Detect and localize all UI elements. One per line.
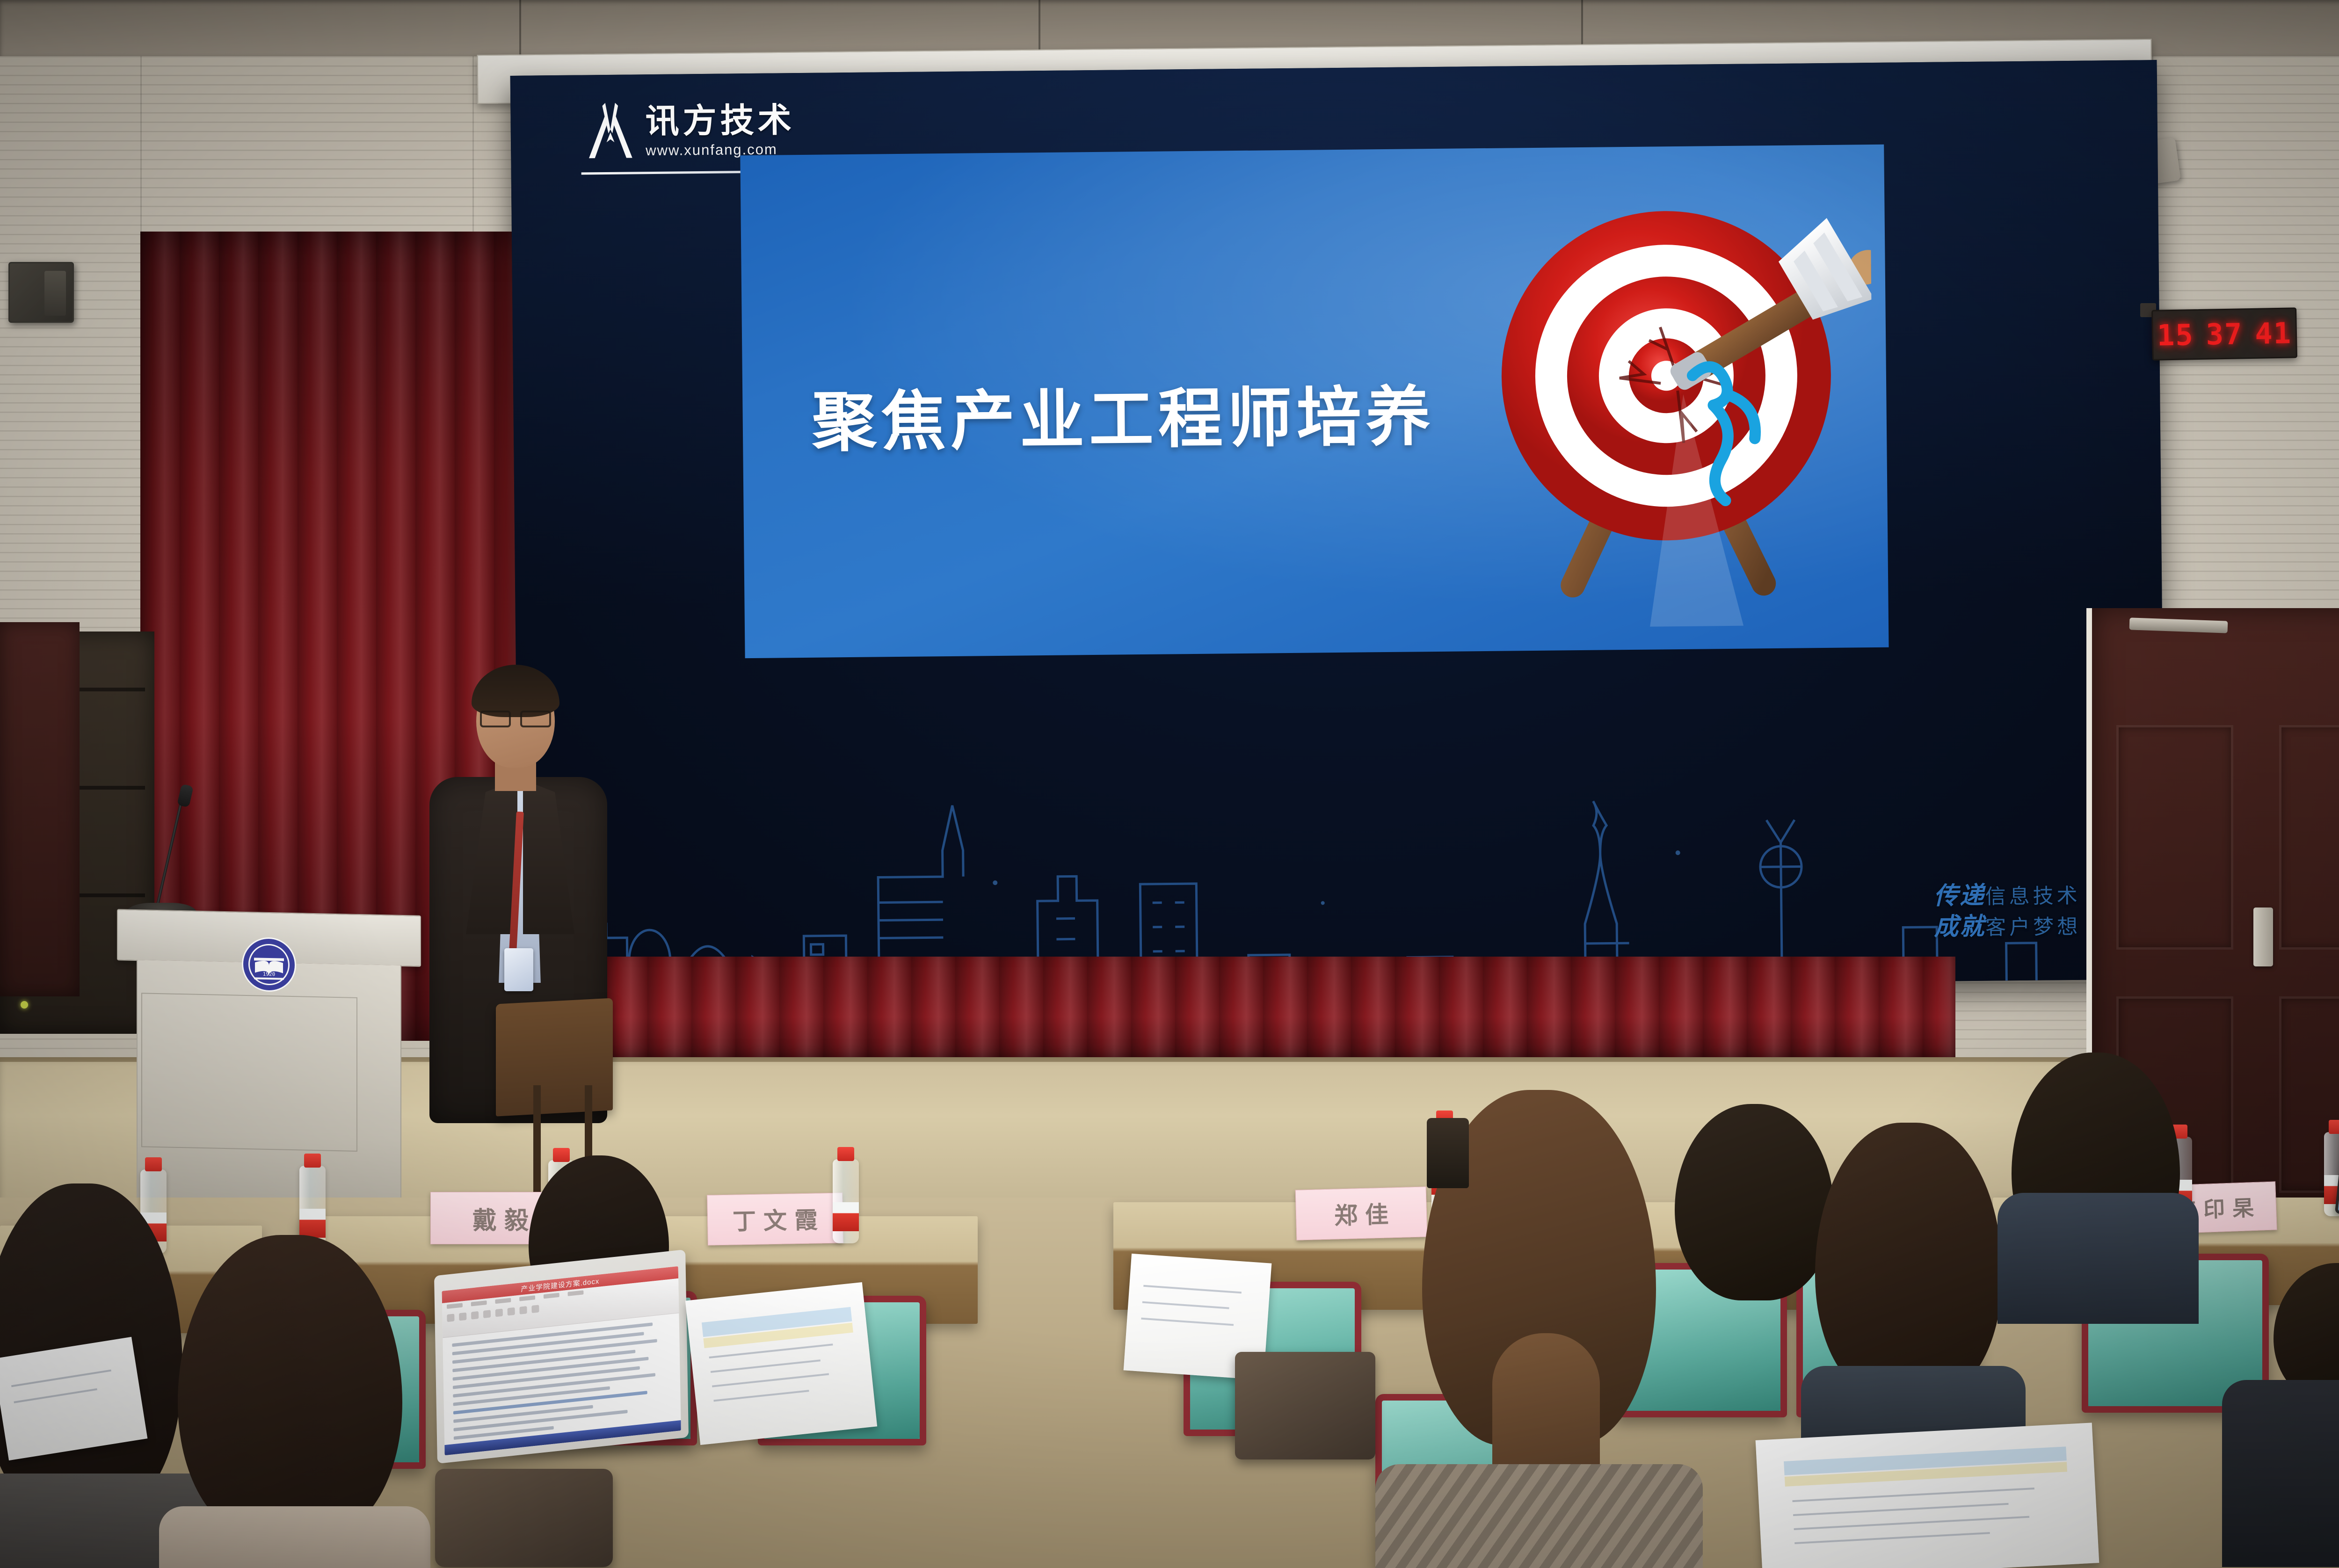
door-closer — [2129, 617, 2228, 633]
ceiling-seam — [1039, 0, 1040, 56]
xunfang-mark-icon — [585, 102, 635, 158]
audience-member — [178, 1235, 402, 1568]
svg-text:1920: 1920 — [263, 971, 275, 978]
audience-member — [2241, 1263, 2339, 1568]
water-bottle — [833, 1159, 859, 1243]
eyeglasses-icon — [480, 711, 551, 725]
exit-door-left[interactable] — [0, 622, 80, 996]
audience-member — [1815, 1123, 2002, 1450]
ribbon-tab[interactable] — [568, 1290, 584, 1296]
audience-member — [1675, 1104, 1834, 1300]
presenter-hair — [472, 665, 559, 717]
ribbon-tab[interactable] — [495, 1298, 511, 1304]
university-emblem-icon: 1920 — [241, 936, 297, 994]
lectern-panel — [141, 993, 357, 1152]
laptop[interactable]: 产业学院建设方案.docx — [434, 1249, 689, 1464]
led-clock: 15 37 41 — [2151, 307, 2297, 360]
tagline-1-bold: 传递 — [1933, 882, 1985, 910]
italic-icon[interactable] — [459, 1313, 466, 1321]
laptop-screen[interactable]: 产业学院建设方案.docx — [442, 1266, 681, 1455]
slide-content-panel: 聚焦产业工程师培养 — [740, 145, 1889, 658]
handout-paper[interactable] — [685, 1282, 877, 1445]
status-led — [21, 1001, 28, 1009]
font-color-icon[interactable] — [519, 1306, 527, 1314]
bold-icon[interactable] — [447, 1314, 454, 1322]
underline-icon[interactable] — [471, 1311, 479, 1320]
tagline-1-thin: 信息技术 — [1985, 885, 2080, 908]
archery-target-icon — [1458, 157, 1874, 638]
ribbon-tab[interactable] — [447, 1303, 463, 1309]
company-tagline: 传递信息技术 成就客户梦想 — [1933, 879, 2081, 943]
list-icon[interactable] — [495, 1309, 503, 1317]
clock-hours: 15 — [2157, 318, 2194, 352]
handbag — [435, 1469, 613, 1567]
handout-paper[interactable] — [1756, 1423, 2099, 1568]
stage-chair — [496, 998, 613, 1116]
style-icon[interactable] — [508, 1307, 515, 1316]
ribbon-tab[interactable] — [519, 1295, 535, 1301]
thermos-cup — [1427, 1118, 1469, 1188]
laptop-lid: 产业学院建设方案.docx — [434, 1249, 689, 1464]
lecture-hall-photo: 讯方技术 www.xunfang.com 聚焦产业工程师培养 — [0, 0, 2339, 1568]
presenter-badge — [504, 948, 533, 991]
name-placard: 丁文霞 — [707, 1192, 843, 1245]
slide-title: 聚焦产业工程师培养 — [812, 364, 1436, 464]
company-logo: 讯方技术 www.xunfang.com — [585, 101, 795, 158]
stage-valance — [603, 957, 1955, 1067]
ceiling-seam — [519, 0, 521, 56]
lectern: 1920 — [117, 909, 421, 1215]
find-icon[interactable] — [531, 1305, 539, 1313]
clock-minutes: 37 — [2206, 317, 2243, 351]
clock-seconds: 41 — [2255, 316, 2292, 350]
align-icon[interactable] — [483, 1310, 491, 1318]
audience-member — [2012, 1053, 2180, 1277]
handbag — [1235, 1352, 1375, 1459]
tagline-2-bold: 成就 — [1934, 913, 1986, 941]
tagline-2-thin: 客户梦想 — [1985, 915, 2081, 939]
ribbon-tab[interactable] — [544, 1293, 559, 1299]
company-name-cn: 讯方技术 — [645, 103, 795, 138]
projection-screen[interactable]: 讯方技术 www.xunfang.com 聚焦产业工程师培养 — [510, 60, 2166, 995]
wall-speaker — [8, 262, 74, 323]
door-panel — [2279, 725, 2339, 950]
handout-paper[interactable] — [0, 1337, 147, 1460]
door-panel — [2116, 725, 2233, 950]
ribbon-tab[interactable] — [471, 1300, 487, 1307]
door-handle[interactable] — [2253, 907, 2273, 966]
